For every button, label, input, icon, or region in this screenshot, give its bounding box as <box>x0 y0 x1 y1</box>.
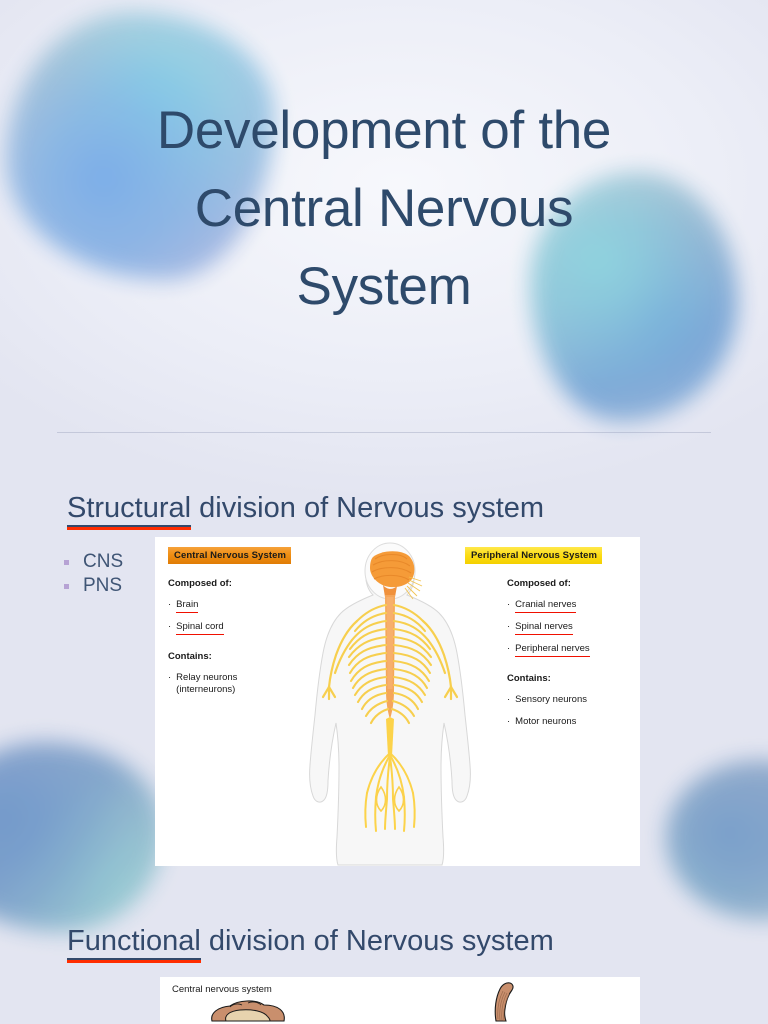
dot-bullet-icon: · <box>507 716 510 728</box>
cns-item-relay-neurons: Relay neurons (interneurons) <box>176 672 237 696</box>
pns-column: Peripheral Nervous System Composed of: ·… <box>465 537 637 728</box>
heading-structural-highlight: Structural <box>67 492 191 527</box>
heading-functional-highlight: Functional <box>67 925 201 960</box>
pns-item-cranial-nerves: Cranial nerves <box>515 599 576 611</box>
title-line-3: System <box>0 248 768 326</box>
slide-page: Development of the Central Nervous Syste… <box>0 0 768 1024</box>
title-line-2: Central Nervous <box>0 170 768 248</box>
heading-structural-division: Structural division of Nervous system <box>67 492 544 525</box>
pns-item-motor-neurons: Motor neurons <box>515 716 576 728</box>
heading-functional-rest: division of Nervous system <box>201 925 554 957</box>
human-body-nervous-system-figure <box>305 541 475 866</box>
dot-bullet-icon: · <box>507 643 510 655</box>
cns-item-relay-neurons-line2: (interneurons) <box>176 684 237 696</box>
cns-banner: Central Nervous System <box>168 547 291 564</box>
pns-item-peripheral-nerves: Peripheral nerves <box>515 643 589 655</box>
pns-contains-label: Contains: <box>507 673 637 684</box>
title-line-1: Development of the <box>0 92 768 170</box>
pns-item-sensory-neurons: Sensory neurons <box>515 694 587 706</box>
bullet-label-pns: PNS <box>83 575 122 597</box>
structural-bullet-list: CNS PNS <box>64 550 123 598</box>
cns-item-brain: Brain <box>176 599 198 611</box>
functional-division-image: Central nervous system <box>160 977 640 1024</box>
cns-composed-of-label: Composed of: <box>168 578 318 589</box>
functional-brain-muscle-figure <box>160 977 640 1024</box>
decorative-blob-bottom-left <box>0 742 164 932</box>
cns-column: Central Nervous System Composed of: · Br… <box>168 537 318 696</box>
decorative-blob-bottom-right <box>666 760 768 920</box>
cns-contains-label: Contains: <box>168 651 318 662</box>
section-divider <box>57 432 711 433</box>
list-item: CNS <box>64 550 123 574</box>
structural-division-image: Central Nervous System Composed of: · Br… <box>155 537 640 866</box>
list-item: PNS <box>64 574 123 598</box>
dot-bullet-icon: · <box>507 621 510 633</box>
heading-functional-division: Functional division of Nervous system <box>67 925 554 958</box>
square-bullet-icon <box>64 584 69 589</box>
list-item: · Cranial nerves <box>507 599 637 611</box>
dot-bullet-icon: · <box>168 672 171 684</box>
cns-item-spinal-cord: Spinal cord <box>176 621 224 633</box>
list-item: · Peripheral nerves <box>507 643 637 655</box>
list-item: · Sensory neurons <box>507 694 637 706</box>
pns-banner: Peripheral Nervous System <box>465 547 602 564</box>
square-bullet-icon <box>64 560 69 565</box>
slide-title: Development of the Central Nervous Syste… <box>0 92 768 326</box>
heading-structural-rest: division of Nervous system <box>191 492 544 524</box>
list-item: · Relay neurons (interneurons) <box>168 672 318 696</box>
list-item: · Brain <box>168 599 318 611</box>
dot-bullet-icon: · <box>507 599 510 611</box>
dot-bullet-icon: · <box>507 694 510 706</box>
pns-item-spinal-nerves: Spinal nerves <box>515 621 573 633</box>
cns-item-relay-neurons-line1: Relay neurons <box>176 672 237 683</box>
list-item: · Spinal cord <box>168 621 318 633</box>
pns-composed-of-label: Composed of: <box>507 578 637 589</box>
bullet-label-cns: CNS <box>83 551 123 573</box>
dot-bullet-icon: · <box>168 599 171 611</box>
dot-bullet-icon: · <box>168 621 171 633</box>
list-item: · Motor neurons <box>507 716 637 728</box>
list-item: · Spinal nerves <box>507 621 637 633</box>
